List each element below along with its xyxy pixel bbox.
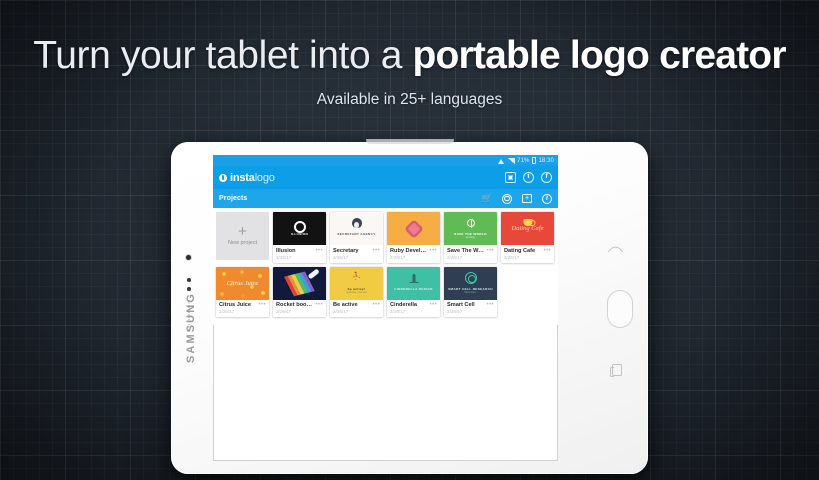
project-menu-icon[interactable]: •••	[429, 248, 437, 254]
project-menu-icon[interactable]: •••	[372, 302, 380, 308]
projects-row: + New project ILLUSIONIllusion•••2/26/17…	[216, 212, 555, 263]
project-meta: Secretary•••2/26/17	[330, 245, 383, 263]
project-menu-icon[interactable]: •••	[258, 302, 266, 308]
project-title: Secretary	[333, 248, 359, 254]
project-date: 2/26/17	[276, 255, 323, 260]
tablet-top-notch	[366, 139, 454, 144]
facebook-button[interactable]: f	[541, 172, 552, 183]
project-thumbnail: SAVE THE WORLDecology	[444, 212, 497, 245]
page-subtitle: Available in 25+ languages	[0, 91, 819, 109]
logo-label-text: SMART CELL RESEARCH	[444, 287, 497, 291]
logo-script-text: Citrus Juice	[216, 280, 269, 287]
headline-bold-part: portable logo creator	[412, 34, 785, 77]
sensor-dot-icon	[187, 278, 191, 282]
logo-label-text: ILLUSION	[273, 232, 326, 236]
project-meta: Illusion•••2/26/17	[273, 245, 326, 263]
gear-icon[interactable]	[502, 194, 512, 204]
project-meta: Rocket booom•••2/26/17	[273, 300, 326, 318]
project-menu-icon[interactable]: •••	[486, 248, 494, 254]
breadcrumb: Projects	[219, 195, 247, 202]
new-project-button[interactable]: + New project	[216, 212, 269, 260]
signal-icon	[508, 158, 515, 164]
front-camera-icon	[186, 255, 191, 260]
project-card[interactable]: SECRETARY AGENCYSecretary•••2/26/17	[330, 212, 383, 263]
logo-label-text: SECRETARY AGENCY	[330, 232, 383, 236]
project-title: Illusion	[276, 248, 296, 254]
device-brand-label: SAMSUNG	[185, 303, 197, 363]
logo-label-text: CINDERELLA DESIGN	[387, 287, 440, 291]
penguin-icon	[352, 218, 362, 228]
battery-icon	[532, 157, 536, 164]
project-title-row: Rocket booom•••	[276, 302, 323, 308]
project-menu-icon[interactable]: •••	[486, 302, 494, 308]
project-title-row: Illusion•••	[276, 248, 323, 254]
project-meta: Smart Cell•••2/26/17	[444, 300, 497, 318]
project-date: 2/26/17	[447, 255, 494, 260]
tablet-screen: 71% 18:30 instalogo ▣ t f Projects 🛒 + i	[213, 155, 558, 461]
project-menu-icon[interactable]: •••	[315, 248, 323, 254]
new-project-label: New project	[228, 240, 257, 246]
project-meta: Save The World•••2/26/17	[444, 245, 497, 263]
globe-icon	[467, 219, 475, 227]
project-meta: Ruby Developer•••2/26/17	[387, 245, 440, 263]
project-title: Smart Cell	[447, 302, 475, 308]
project-thumbnail: ⛹be active!motivate yourself	[330, 267, 383, 300]
project-card[interactable]: SAVE THE WORLDecologySave The World•••2/…	[444, 212, 497, 263]
project-card[interactable]: SMART CELL RESEARCHlaboratorySmart Cell•…	[444, 267, 497, 318]
logo-label-text: SAVE THE WORLD	[444, 232, 497, 236]
headline-light-part: Turn your tablet into a	[33, 34, 412, 77]
project-date: 2/26/17	[276, 309, 323, 314]
project-title: Be active	[333, 302, 358, 308]
cart-icon[interactable]: 🛒	[481, 193, 492, 204]
mannequin-icon	[412, 274, 415, 283]
logo-label-text: be active!	[330, 287, 383, 291]
projects-row: Citrus JuiceCitrus Juice•••2/26/17Rocket…	[216, 267, 555, 318]
project-thumbnail: SMART CELL RESEARCHlaboratory	[444, 267, 497, 300]
promo-text-block: Turn your tablet into a portable logo cr…	[0, 34, 819, 109]
project-meta: Citrus Juice•••2/26/17	[216, 300, 269, 318]
app-bar: instalogo ▣ t f	[213, 166, 558, 189]
logo-tagline-text: motivate yourself	[330, 292, 383, 294]
wifi-icon	[498, 158, 505, 164]
project-date: 2/26/17	[333, 309, 380, 314]
project-thumbnail: Dating Cafe	[501, 212, 554, 245]
project-thumbnail	[387, 212, 440, 245]
project-thumbnail: CINDERELLA DESIGN	[387, 267, 440, 300]
page-title: Turn your tablet into a portable logo cr…	[0, 34, 819, 78]
project-card[interactable]: CINDERELLA DESIGNCinderella•••2/26/17	[387, 267, 440, 318]
project-date: 2/26/17	[333, 255, 380, 260]
app-name-label: instalogo	[230, 172, 275, 184]
projects-row-1: ILLUSIONIllusion•••2/26/17SECRETARY AGEN…	[273, 212, 554, 263]
back-icon[interactable]	[608, 244, 624, 260]
app-logo[interactable]: instalogo	[219, 172, 275, 184]
projects-row-2: Citrus JuiceCitrus Juice•••2/26/17Rocket…	[216, 267, 497, 318]
app-name-light: logo	[255, 172, 275, 184]
project-thumbnail: ILLUSION	[273, 212, 326, 245]
project-menu-icon[interactable]: •••	[429, 302, 437, 308]
instalogo-mark-icon	[219, 174, 227, 182]
project-card[interactable]: ILLUSIONIllusion•••2/26/17	[273, 212, 326, 263]
sub-bar: Projects 🛒 + i	[213, 189, 558, 208]
app-name-bold: insta	[230, 172, 255, 184]
battery-percent-label: 71%	[517, 158, 529, 164]
instagram-button[interactable]: ▣	[505, 172, 516, 183]
project-title-row: Secretary•••	[333, 248, 380, 254]
recents-icon[interactable]	[612, 364, 622, 376]
home-button[interactable]	[607, 290, 633, 328]
project-date: 2/26/17	[447, 309, 494, 314]
app-bar-actions: ▣ t f	[505, 172, 552, 183]
project-title-row: Dating Cafe•••	[504, 248, 551, 254]
projects-grid: + New project ILLUSIONIllusion•••2/26/17…	[213, 208, 558, 325]
project-menu-icon[interactable]: •••	[372, 248, 380, 254]
project-card[interactable]: ⛹be active!motivate yourselfBe active•••…	[330, 267, 383, 318]
project-title-row: Citrus Juice•••	[219, 302, 266, 308]
project-meta: Cinderella•••2/26/17	[387, 300, 440, 318]
project-title-row: Save The World•••	[447, 248, 494, 254]
twitter-button[interactable]: t	[523, 172, 534, 183]
logo-tagline-text: laboratory	[444, 292, 497, 294]
project-date: 2/26/17	[504, 255, 551, 260]
logo-tagline-text: ecology	[444, 237, 497, 239]
project-date: 2/26/17	[390, 255, 437, 260]
tablet-device: SAMSUNG 71% 18:30 instalogo ▣ t f Projec…	[171, 142, 648, 474]
project-title: Ruby Developer	[390, 248, 427, 254]
plus-icon: +	[238, 226, 247, 238]
project-meta: Dating Cafe•••2/26/17	[501, 245, 554, 263]
project-title: Cinderella	[390, 302, 417, 308]
project-card[interactable]: Citrus JuiceCitrus Juice•••2/26/17	[216, 267, 269, 318]
project-title: Citrus Juice	[219, 302, 251, 308]
logo-script-text: Dating Cafe	[501, 225, 554, 232]
project-card[interactable]: Ruby Developer•••2/26/17	[387, 212, 440, 263]
project-thumbnail: SECRETARY AGENCY	[330, 212, 383, 245]
ruby-icon	[404, 219, 424, 239]
sub-bar-actions: 🛒 + i	[481, 193, 552, 204]
status-bar: 71% 18:30	[213, 155, 558, 166]
project-date: 2/26/17	[390, 309, 437, 314]
project-title-row: Ruby Developer•••	[390, 248, 437, 254]
project-title-row: Smart Cell•••	[447, 302, 494, 308]
project-title: Rocket booom	[276, 302, 313, 308]
project-date: 2/26/17	[219, 309, 266, 314]
project-title-row: Be active•••	[333, 302, 380, 308]
project-thumbnail: Citrus Juice	[216, 267, 269, 300]
runner-icon: ⛹	[352, 273, 361, 280]
project-card[interactable]: Rocket booom•••2/26/17	[273, 267, 326, 318]
sensor-dot-icon	[187, 287, 191, 291]
project-thumbnail	[273, 267, 326, 300]
project-menu-icon[interactable]: •••	[543, 248, 551, 254]
project-menu-icon[interactable]: •••	[315, 302, 323, 308]
cell-icon	[465, 272, 477, 284]
project-title: Dating Cafe	[504, 248, 535, 254]
clock-label: 18:30	[538, 158, 554, 164]
info-icon[interactable]: i	[542, 194, 552, 204]
project-title-row: Cinderella•••	[390, 302, 437, 308]
project-card[interactable]: Dating CafeDating Cafe•••2/26/17	[501, 212, 554, 263]
project-title: Save The World	[447, 248, 484, 254]
project-meta: Be active•••2/26/17	[330, 300, 383, 318]
new-folder-icon[interactable]: +	[522, 194, 532, 203]
rocket-trail	[275, 269, 315, 300]
